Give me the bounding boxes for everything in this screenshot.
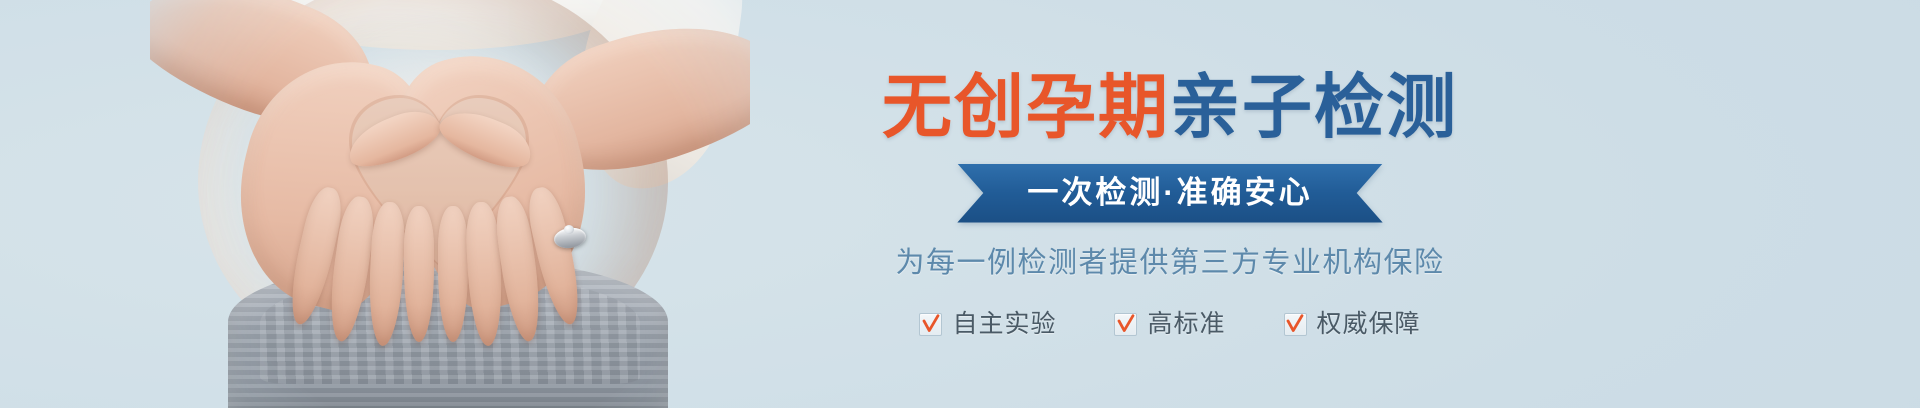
finger-ring-stone	[564, 225, 574, 234]
feature-label-2: 高标准	[1147, 312, 1225, 337]
pregnant-belly-hands-heart-image	[150, 0, 750, 408]
feature-item-3: 权威保障	[1284, 312, 1421, 337]
promo-banner: 无创孕期亲子检测 一次检测·准确安心 为每一例检测者提供第三方专业机构保险 自主…	[0, 0, 1920, 408]
check-icon	[1114, 313, 1137, 336]
headline: 无创孕期亲子检测	[882, 72, 1458, 142]
hero-photo	[150, 0, 750, 408]
feature-item-1: 自主实验	[919, 312, 1056, 337]
ribbon-text: 一次检测·准确安心	[957, 164, 1382, 223]
headline-orange-segment: 无创孕期	[882, 68, 1170, 146]
check-icon	[919, 313, 942, 336]
banner-content: 无创孕期亲子检测 一次检测·准确安心 为每一例检测者提供第三方专业机构保险 自主…	[760, 0, 1580, 408]
check-icon	[1284, 313, 1307, 336]
headline-blue-segment: 亲子检测	[1170, 68, 1458, 146]
subtitle: 为每一例检测者提供第三方专业机构保险	[895, 249, 1444, 278]
ribbon-banner: 一次检测·准确安心	[957, 164, 1382, 223]
feature-list: 自主实验 高标准 权威保障	[919, 312, 1420, 337]
feature-label-1: 自主实验	[952, 312, 1056, 337]
feature-item-2: 高标准	[1114, 312, 1225, 337]
feature-label-3: 权威保障	[1317, 312, 1421, 337]
